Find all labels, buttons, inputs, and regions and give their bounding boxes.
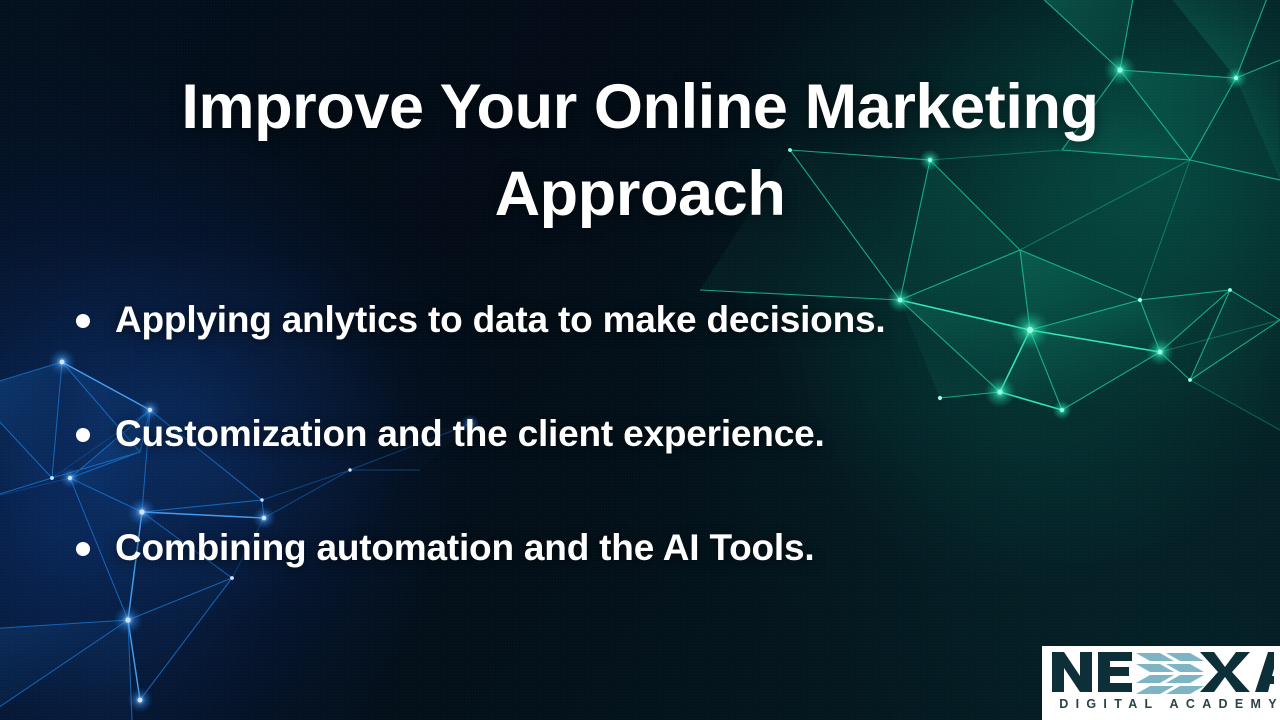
bullet-dot-icon bbox=[76, 542, 90, 556]
bullet-dot-icon bbox=[76, 428, 90, 442]
nexxa-wordmark-icon bbox=[1050, 650, 1274, 694]
list-item: Applying anlytics to data to make decisi… bbox=[0, 296, 1280, 410]
list-item: Customization and the client experience. bbox=[0, 410, 1280, 524]
presentation-slide: Improve Your Online Marketing Approach A… bbox=[0, 0, 1280, 720]
bullet-dot-icon bbox=[76, 314, 90, 328]
bullet-list: Applying anlytics to data to make decisi… bbox=[0, 296, 1280, 638]
logo-tagline: DIGITAL ACADEMY bbox=[1052, 696, 1274, 712]
nexxa-logo: DIGITAL ACADEMY bbox=[1042, 646, 1280, 720]
list-item: Combining automation and the AI Tools. bbox=[0, 524, 1280, 638]
bullet-text: Applying anlytics to data to make decisi… bbox=[115, 296, 885, 344]
slide-title: Improve Your Online Marketing Approach bbox=[90, 64, 1190, 238]
bullet-text: Combining automation and the AI Tools. bbox=[115, 524, 814, 572]
bullet-text: Customization and the client experience. bbox=[115, 410, 825, 458]
